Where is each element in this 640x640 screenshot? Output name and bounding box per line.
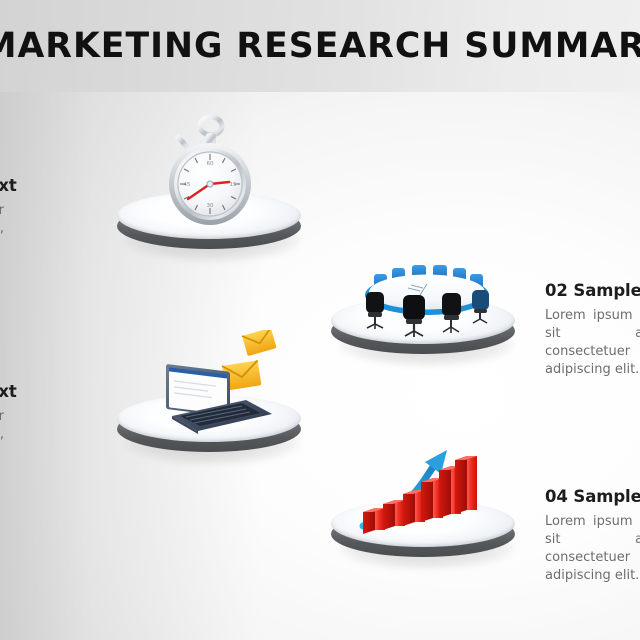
item-body-03: Lorem ipsum dolor sit amet, consectetuer…	[0, 408, 4, 480]
slide-canvas: MARKETING RESEARCH SUMMARY	[0, 0, 640, 640]
podium-disc-03	[117, 395, 301, 459]
svg-text:45: 45	[184, 182, 191, 188]
item-heading-04: 04 Sample Text	[545, 487, 640, 506]
podium-disc-02	[331, 297, 515, 361]
disc-top	[331, 500, 515, 547]
text-block-01: 01 Sample Text Lorem ipsum dolor sit ame…	[0, 176, 86, 274]
title-band: MARKETING RESEARCH SUMMARY	[0, 0, 640, 92]
text-block-02: 02 Sample Text Lorem ipsum dolor sit ame…	[545, 281, 640, 379]
text-block-04: 04 Sample Text Lorem ipsum dolor sit ame…	[545, 487, 640, 585]
svg-text:15: 15	[230, 182, 237, 188]
disc-top	[331, 297, 515, 344]
text-block-03: 03 Sample Text Lorem ipsum dolor sit ame…	[0, 382, 86, 480]
disc-top	[117, 395, 301, 442]
podium-disc-01	[117, 192, 301, 256]
item-body-01: Lorem ipsum dolor sit amet, consectetuer…	[0, 202, 4, 274]
item-body-02: Lorem ipsum dolor sit amet, consectetuer…	[545, 307, 640, 379]
item-heading-01: 01 Sample Text	[0, 176, 86, 195]
page-title: MARKETING RESEARCH SUMMARY	[0, 24, 640, 68]
item-heading-02: 02 Sample Text	[545, 281, 640, 300]
disc-top	[117, 192, 301, 239]
background-left-shade	[0, 0, 260, 640]
item-body-04: Lorem ipsum dolor sit amet, consectetuer…	[545, 513, 640, 585]
svg-text:60: 60	[207, 161, 214, 167]
podium-disc-04	[331, 500, 515, 564]
item-heading-03: 03 Sample Text	[0, 382, 86, 401]
